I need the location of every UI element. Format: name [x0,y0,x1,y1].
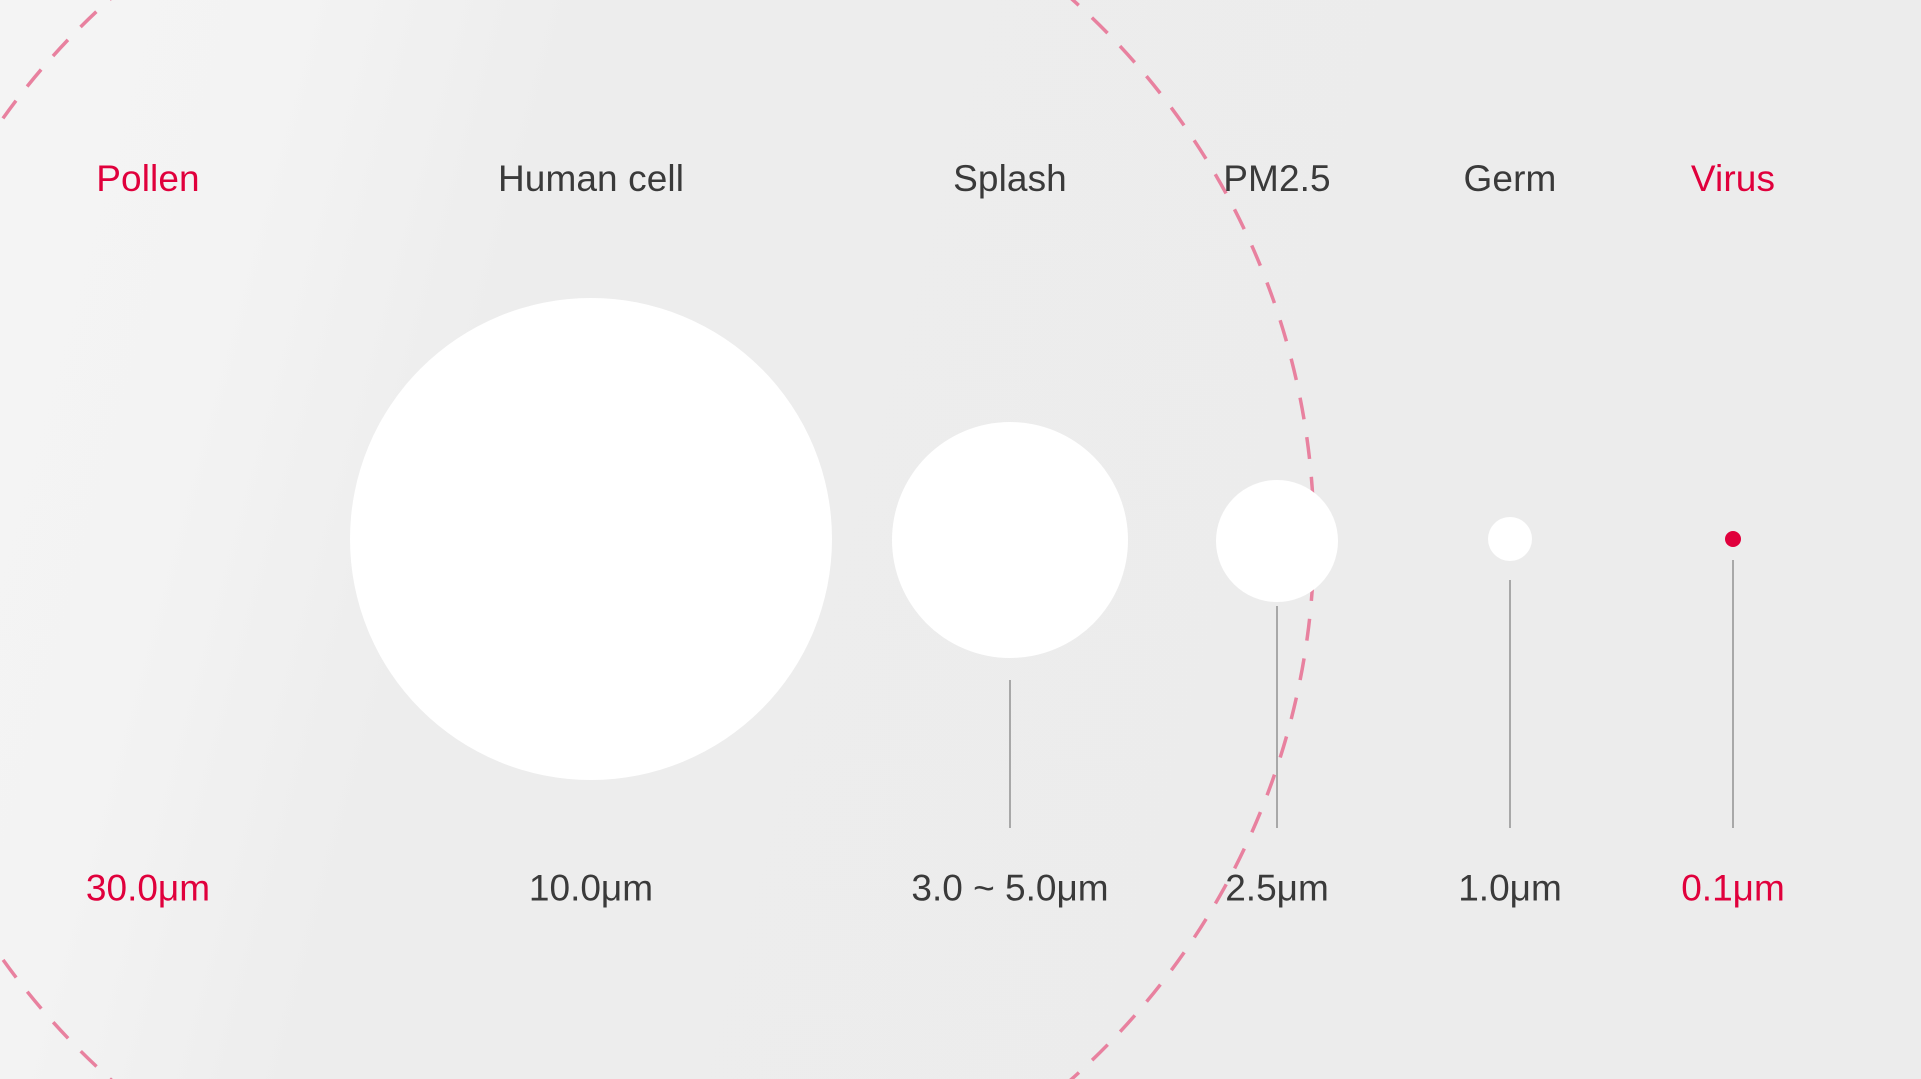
column-title-pm25: PM2.5 [1223,160,1330,197]
stem-virus [1732,560,1734,828]
particle-size-figure: Pollen 30.0μm Human cell 10.0μm Splash 3… [0,0,1921,1079]
column-title-pollen: Pollen [96,160,199,197]
stem-germ [1509,580,1511,828]
column-value-germ: 1.0μm [1458,870,1562,907]
stem-pm25 [1276,606,1278,828]
column-value-pollen: 30.0μm [86,870,210,907]
column-value-human-cell: 10.0μm [529,870,653,907]
column-value-virus: 0.1μm [1681,870,1785,907]
column-value-splash: 3.0 ~ 5.0μm [911,870,1108,907]
column-title-splash: Splash [953,160,1067,197]
stem-splash [1009,680,1011,828]
bubble-splash [892,422,1128,658]
column-value-pm25: 2.5μm [1225,870,1329,907]
bubble-virus [1725,531,1741,547]
column-title-germ: Germ [1464,160,1557,197]
column-title-human-cell: Human cell [498,160,684,197]
bubble-human-cell [350,298,832,780]
column-title-virus: Virus [1691,160,1775,197]
bubble-pm25 [1216,480,1338,602]
bubble-germ [1488,517,1532,561]
